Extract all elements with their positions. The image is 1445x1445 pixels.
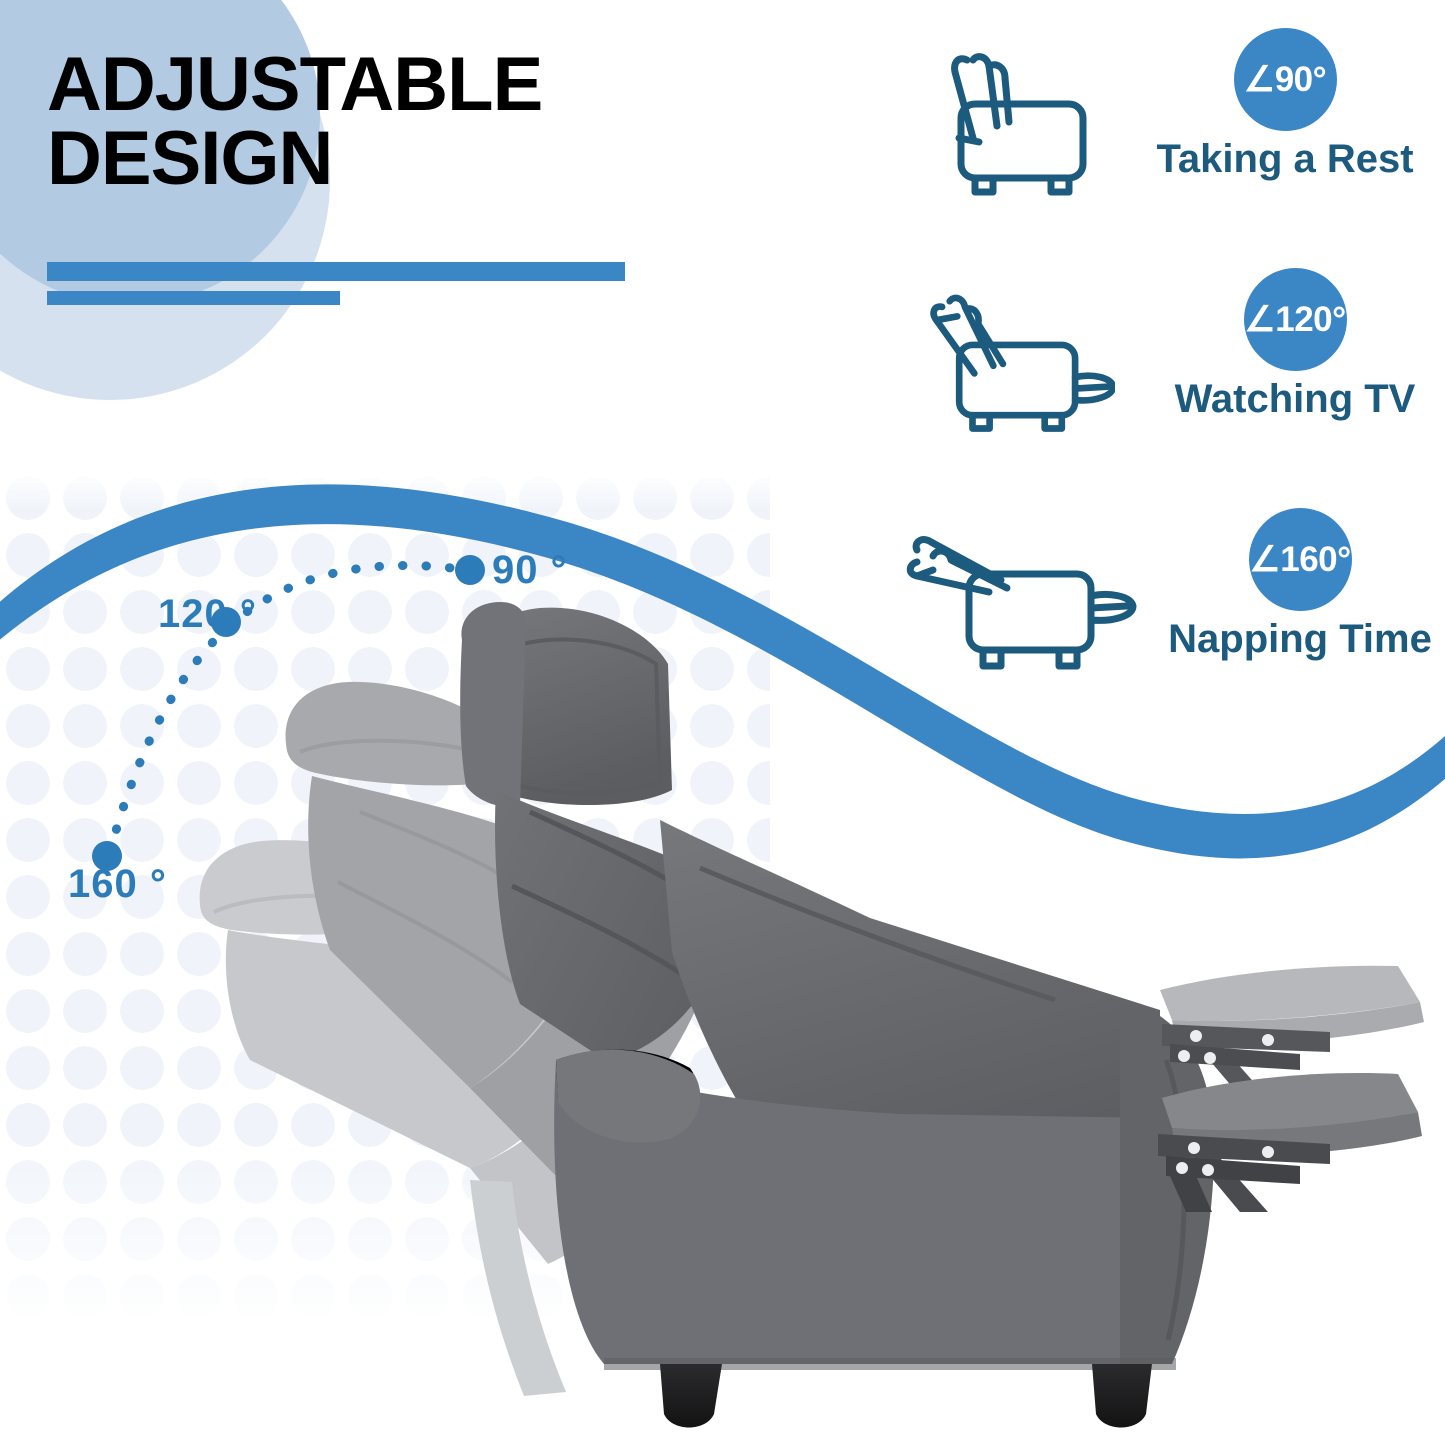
angle-badge-120: ∠120° xyxy=(1244,268,1347,371)
feature-label-taking-a-rest: Taking a Rest xyxy=(1135,137,1435,182)
feature-text-group: ∠160° Napping Time xyxy=(1150,508,1445,662)
angle-badge-90: ∠90° xyxy=(1234,28,1337,131)
chair-leg-rear xyxy=(1092,1364,1152,1428)
title-rule-short xyxy=(47,291,340,305)
feature-text-group: ∠120° Watching TV xyxy=(1145,268,1445,422)
feature-label-napping-time: Napping Time xyxy=(1150,617,1445,662)
chair-leg-front xyxy=(660,1364,722,1428)
feature-label-watching-tv: Watching TV xyxy=(1145,377,1445,422)
footrest-main xyxy=(1158,1073,1422,1212)
arc-label-120: 120 ° xyxy=(158,592,257,637)
arc-label-90: 90 ° xyxy=(492,548,568,593)
feature-row-watching-tv: ∠120° Watching TV xyxy=(895,268,1440,508)
title-rule-long xyxy=(47,262,625,281)
title-block: ADJUSTABLE DESIGN xyxy=(47,48,687,197)
recliner-flat-icon xyxy=(903,522,1138,682)
recliner-upright-icon xyxy=(935,42,1125,202)
feature-row-napping-time: ∠160° Napping Time xyxy=(895,508,1440,748)
feature-list: ∠90° Taking a Rest ∠120 xyxy=(895,28,1440,748)
page-title: ADJUSTABLE DESIGN xyxy=(47,48,687,197)
angle-badge-160: ∠160° xyxy=(1249,508,1352,611)
recliner-reclined-icon xyxy=(925,282,1115,442)
feature-text-group: ∠90° Taking a Rest xyxy=(1135,28,1435,182)
feature-row-taking-a-rest: ∠90° Taking a Rest xyxy=(895,28,1440,268)
arc-label-160: 160 ° xyxy=(68,862,167,907)
